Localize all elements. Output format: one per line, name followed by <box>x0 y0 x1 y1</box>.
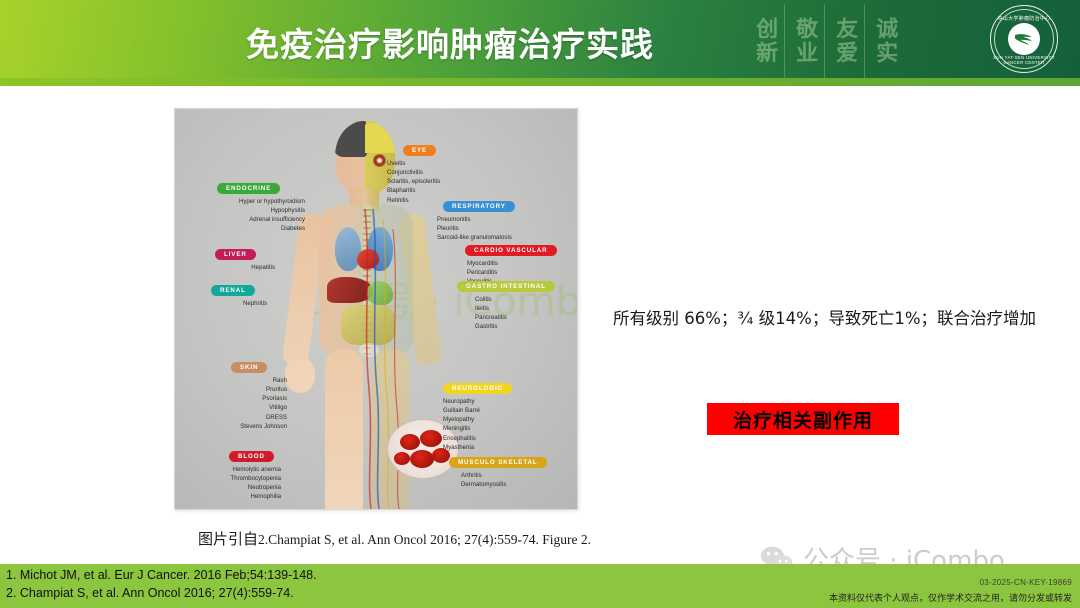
reference-item-1: 1. Michot JM, et al. Eur J Cancer. 2016 … <box>6 567 317 585</box>
label-items-musculo-skeletal: Arthritis Dermatomyositis <box>461 471 506 489</box>
label-tag-renal: RENAL <box>211 285 255 296</box>
sysucc-logo: 中山大学肿瘤防治中心 SUN YAT-SEN UNIVERSITY CANCER… <box>990 5 1058 73</box>
anatomy-figure: 公众号 · iCombo <box>174 108 578 510</box>
treatment-side-effects-callout: 治疗相关副作用 <box>707 403 899 435</box>
label-items-neurologic: Neuropathy Guillain Barré Myelopathy Men… <box>443 397 480 452</box>
logo-core <box>1008 23 1040 55</box>
label-items-renal: Nephritis <box>175 299 267 308</box>
skull-cutaway <box>365 123 395 153</box>
logo-ring-text-bottom: SUN YAT-SEN UNIVERSITY CANCER CENTER <box>991 55 1057 65</box>
label-tag-cardio-vascular: CARDIO VASCULAR <box>465 245 557 256</box>
slide: 免疫治疗影响肿瘤治疗实践 创新 敬业 友爱 诚实 中山大学肿瘤防治中心 SUN … <box>0 0 1080 608</box>
label-tag-gastro-intestinal: GASTRO INTESTINAL <box>457 281 555 292</box>
red-blood-cell <box>410 450 434 468</box>
page-title: 免疫治疗影响肿瘤治疗实践 <box>246 18 654 66</box>
red-blood-cell <box>420 430 442 447</box>
figure-caption: 图片引自2.Champiat S, et al. Ann Oncol 2016;… <box>198 528 591 549</box>
figure-caption-reference: 2.Champiat S, et al. Ann Oncol 2016; 27(… <box>258 532 591 547</box>
footer-disclaimer: 本资料仅代表个人观点，仅作学术交流之用，请勿分发或转发 <box>829 591 1072 604</box>
figure-caption-prefix: 图片引自 <box>198 530 258 548</box>
reference-list: 1. Michot JM, et al. Eur J Cancer. 2016 … <box>6 567 317 603</box>
red-blood-cell <box>394 452 410 465</box>
logo-ring-text-top: 中山大学肿瘤防治中心 <box>991 15 1057 22</box>
label-items-respiratory: Pneumonitis Pleuritis Sarcoid-like granu… <box>437 215 512 242</box>
label-items-gastro-intestinal: Colitis Ileitis Pancreatitis Gastritis <box>475 295 507 332</box>
label-items-liver: Hepatitis <box>175 263 275 272</box>
calligraphy-motto-group: 创新 敬业 友爱 诚实 <box>745 4 905 78</box>
label-tag-eye: EYE <box>403 145 436 156</box>
reference-item-2: 2. Champiat S, et al. Ann Oncol 2016; 27… <box>6 585 317 603</box>
head-shape <box>335 121 395 195</box>
label-tag-liver: LIVER <box>215 249 256 260</box>
material-code: 03-2025-CN-KEY-19869 <box>980 578 1072 587</box>
calligraphy-cell-3: 友爱 <box>825 4 865 78</box>
eye-shape <box>373 154 386 167</box>
hair-shape <box>335 121 367 157</box>
left-hand-shape <box>285 359 315 393</box>
slide-header: 免疫治疗影响肿瘤治疗实践 创新 敬业 友爱 诚实 中山大学肿瘤防治中心 SUN … <box>0 0 1080 78</box>
calligraphy-cell-2: 敬业 <box>785 4 825 78</box>
calligraphy-text-2: 敬业 <box>793 17 816 66</box>
label-items-blood: Hemolytic anemia Thrombocytopenia Neutro… <box>175 465 281 502</box>
label-items-skin: Rash Pruritus Psoriasis Vitiligo DRESS S… <box>175 376 287 431</box>
label-items-eye: Uveitis Conjunctivitis Sclaritis, episcl… <box>387 159 440 205</box>
header-accent-bar <box>0 78 1080 86</box>
calligraphy-text-3: 友爱 <box>833 17 856 66</box>
calligraphy-text-4: 诚实 <box>873 17 896 66</box>
slide-footer: 1. Michot JM, et al. Eur J Cancer. 2016 … <box>0 564 1080 608</box>
adverse-event-statistics: 所有级别 66%；¾ 级14%；导致死亡1%；联合治疗增加 <box>613 305 1036 329</box>
label-tag-musculo-skeletal: MUSCULO SKELETAL <box>449 457 547 468</box>
calligraphy-cell-4: 诚实 <box>865 4 905 78</box>
calligraphy-text-1: 创新 <box>753 17 776 66</box>
calligraphy-cell-1: 创新 <box>745 4 785 78</box>
label-tag-skin: SKIN <box>231 362 267 373</box>
label-tag-blood: BLOOD <box>229 451 274 462</box>
label-tag-neurologic: NEUROLOGIC <box>443 383 512 394</box>
red-blood-cell <box>400 434 420 450</box>
label-tag-respiratory: RESPIRATORY <box>443 201 515 212</box>
bird-icon <box>1014 32 1034 46</box>
treatment-side-effects-label: 治疗相关副作用 <box>733 406 873 433</box>
label-tag-endocrine: ENDOCRINE <box>217 183 280 194</box>
label-items-endocrine: Hyper or hypothyroidism Hypophysitis Adr… <box>175 197 305 234</box>
